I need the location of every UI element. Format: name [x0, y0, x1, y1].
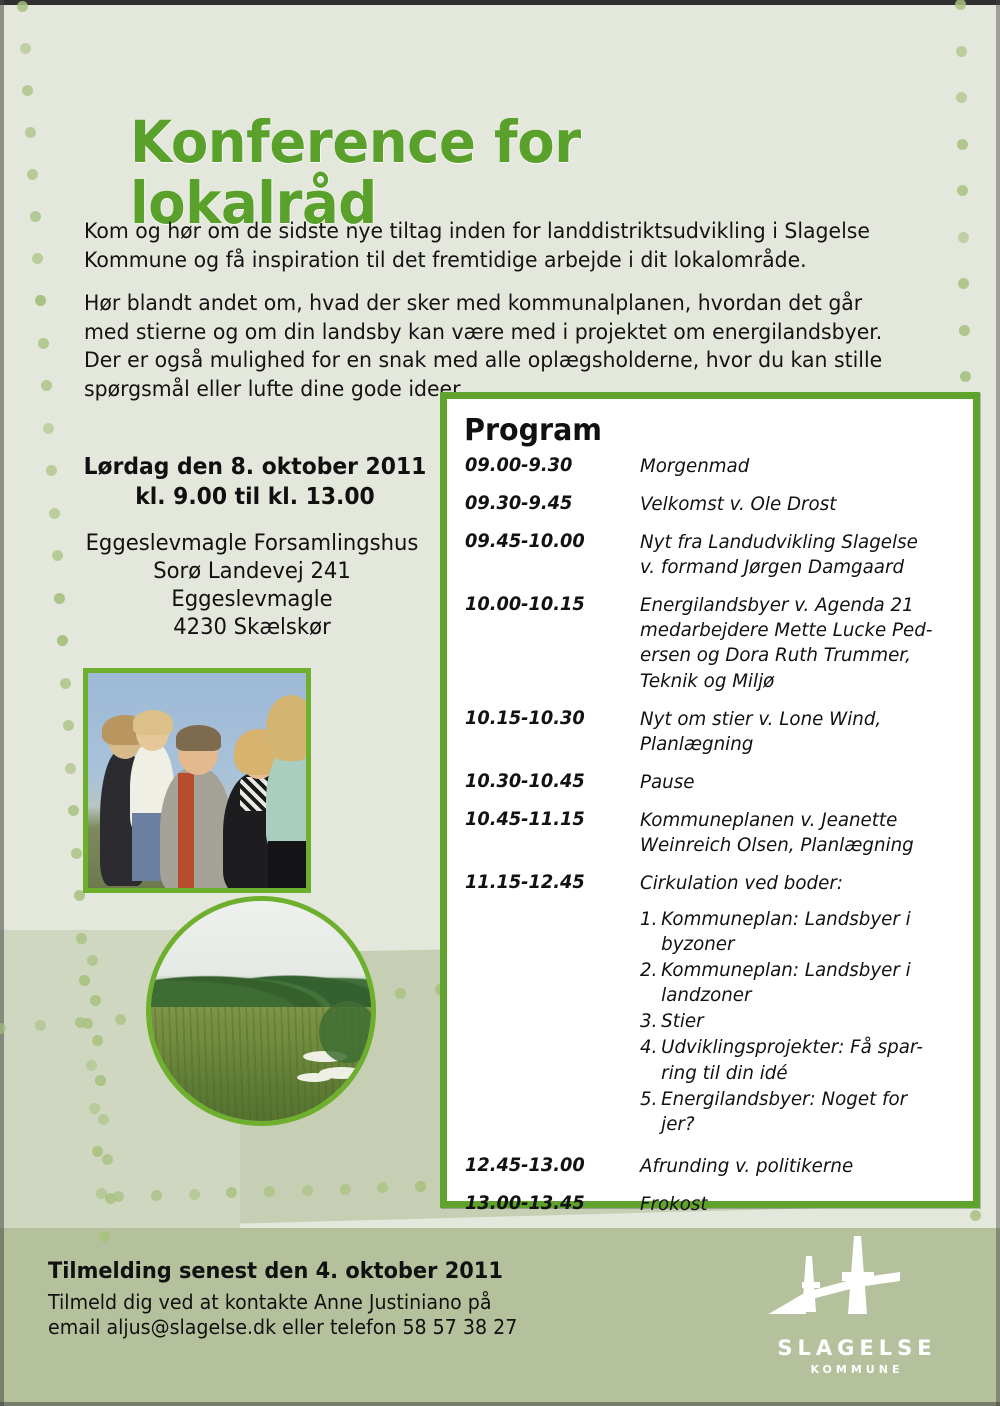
program-time: 13.00-13.45: [465, 1192, 633, 1217]
program-time: 10.15-10.30: [465, 707, 633, 757]
program-sublist-line: Stier: [661, 1009, 946, 1034]
program-row: 10.30-10.45Pause: [447, 770, 973, 795]
program-row: 09.00-9.30Morgenmad: [447, 454, 973, 479]
event-venue: Eggeslevmagle Forsamlingshus Sorø Landev…: [60, 530, 444, 643]
program-sublist-item: 5.Energilandsbyer: Noget forjer?: [640, 1087, 946, 1137]
program-description-line: Frokost: [640, 1192, 946, 1217]
contact-line-1: Tilmeld dig ved at kontakte Anne Justini…: [48, 1290, 637, 1315]
program-sublist-line: Kommuneplan: Landsbyer i: [661, 958, 946, 983]
event-datetime: Lørdag den 8. oktober 2011 kl. 9.00 til …: [70, 452, 441, 513]
bridge-icon: [762, 1234, 952, 1334]
program-description-line: v. formand Jørgen Damgaard: [640, 555, 946, 580]
program-sublist-text: Stier: [661, 1009, 946, 1034]
program-description-line: Nyt om stier v. Lone Wind,: [640, 707, 946, 732]
nature-photo-flower-3: [297, 1073, 331, 1082]
venue-town: Eggeslevmagle: [60, 586, 444, 614]
top-edge-rule: [0, 0, 1000, 5]
program-time: 09.30-9.45: [465, 492, 633, 517]
program-description: Frokost: [640, 1192, 946, 1217]
program-description-line: Velkomst v. Ole Drost: [640, 492, 946, 517]
program-description-line: Afrunding v. politikerne: [640, 1154, 946, 1179]
program-box: Program 09.00-9.30Morgenmad09.30-9.45Vel…: [440, 392, 980, 1208]
program-description-line: Planlægning: [640, 732, 946, 757]
program-description-line: ersen og Dora Ruth Trummer,: [640, 643, 946, 668]
footer-registration: Tilmelding senest den 4. oktober 2011 Ti…: [48, 1258, 668, 1340]
program-sublist-item: 2.Kommuneplan: Landsbyer ilandzoner: [640, 958, 946, 1008]
program-description: Velkomst v. Ole Drost: [640, 492, 946, 517]
program-sublist-text: Energilandsbyer: Noget forjer?: [661, 1087, 946, 1137]
figure-man-hair: [176, 725, 221, 751]
program-description-line: Cirkulation ved boder:: [640, 871, 946, 896]
program-time: 11.15-12.45: [465, 871, 633, 1141]
program-row: 12.45-13.00Afrunding v. politikerne: [447, 1154, 973, 1179]
program-description-line: Nyt fra Landudvikling Slagelse: [640, 530, 946, 555]
family-photo: [83, 668, 311, 893]
program-description-line: Energilandsbyer v. Agenda 21: [640, 593, 946, 618]
right-edge-rule: [996, 0, 1000, 1406]
program-description: Morgenmad: [640, 454, 946, 479]
program-description: Kommuneplanen v. JeanetteWeinreich Olsen…: [640, 808, 946, 858]
program-row: 09.30-9.45Velkomst v. Ole Drost: [447, 492, 973, 517]
program-description-line: Kommuneplanen v. Jeanette: [640, 808, 946, 833]
program-sublist-line: Energilandsbyer: Noget for: [661, 1087, 946, 1112]
left-edge-rule: [0, 0, 4, 1406]
program-description: Afrunding v. politikerne: [640, 1154, 946, 1179]
program-sublist-number: 2.: [640, 958, 661, 1008]
program-description: Cirkulation ved boder:1.Kommuneplan: Lan…: [640, 871, 946, 1141]
event-date: Lørdag den 8. oktober 2011: [70, 452, 441, 482]
program-row: 10.00-10.15Energilandsbyer v. Agenda 21m…: [447, 593, 973, 693]
program-sublist-number: 3.: [640, 1009, 661, 1034]
program-description-line: Pause: [640, 770, 946, 795]
program-sublist-text: Udviklingsprojekter: Få spar-ring til di…: [661, 1035, 946, 1085]
program-sublist-line: Kommuneplan: Landsbyer i: [661, 907, 946, 932]
figure-child-hair: [133, 710, 173, 735]
logo-name: SLAGELSE: [762, 1336, 952, 1360]
bottom-edge-rule: [0, 1402, 1000, 1406]
program-description-line: medarbejdere Mette Lucke Ped-: [640, 618, 946, 643]
program-sublist-item: 1.Kommuneplan: Landsbyer ibyzoner: [640, 907, 946, 957]
figure-man: [160, 768, 232, 893]
program-time: 09.45-10.00: [465, 530, 633, 580]
program-sublist-line: landzoner: [661, 983, 946, 1008]
registration-contact: Tilmeld dig ved at kontakte Anne Justini…: [48, 1290, 637, 1340]
program-sublist-item: 3.Stier: [640, 1009, 946, 1034]
program-sublist-line: byzoner: [661, 932, 946, 957]
venue-street: Sorø Landevej 241: [60, 558, 444, 586]
figure-teen-hair: [266, 695, 311, 761]
program-time: 10.45-11.15: [465, 808, 633, 858]
figure-man-scarf: [178, 773, 194, 888]
program-description: Energilandsbyer v. Agenda 21medarbejdere…: [640, 593, 946, 693]
program-row: 10.45-11.15Kommuneplanen v. JeanetteWein…: [447, 808, 973, 858]
program-sublist-number: 1.: [640, 907, 661, 957]
program-description-line: Morgenmad: [640, 454, 946, 479]
venue-name: Eggeslevmagle Forsamlingshus: [60, 530, 444, 558]
program-list: 09.00-9.30Morgenmad09.30-9.45Velkomst v.…: [447, 454, 973, 1217]
program-sublist-item: 4.Udviklingsprojekter: Få spar-ring til …: [640, 1035, 946, 1085]
venue-zipcity: 4230 Skælskør: [60, 614, 444, 642]
program-sublist-line: jer?: [661, 1112, 946, 1137]
program-description-line: Teknik og Miljø: [640, 669, 946, 694]
logo-subtitle: KOMMUNE: [762, 1363, 952, 1376]
program-description-line: Weinreich Olsen, Planlægning: [640, 833, 946, 858]
program-sublist-number: 4.: [640, 1035, 661, 1085]
registration-deadline: Tilmelding senest den 4. oktober 2011: [48, 1258, 637, 1286]
program-row: 13.00-13.45Frokost: [447, 1192, 973, 1217]
intro-paragraph-2: Hør blandt andet om, hvad der sker med k…: [84, 290, 901, 404]
figure-teen-legs: [268, 841, 311, 893]
program-sublist-text: Kommuneplan: Landsbyer ibyzoner: [661, 907, 946, 957]
program-description: Pause: [640, 770, 946, 795]
slagelse-kommune-logo: SLAGELSE KOMMUNE: [762, 1234, 952, 1384]
program-row: 11.15-12.45Cirkulation ved boder:1.Kommu…: [447, 871, 973, 1141]
contact-line-2: email aljus@slagelse.dk eller telefon 58…: [48, 1315, 637, 1340]
event-time: kl. 9.00 til kl. 13.00: [70, 482, 441, 512]
intro-text: Kom og hør om de sidste nye tiltag inden…: [84, 218, 901, 420]
nature-photo-bush: [319, 1001, 376, 1063]
figure-teen: [266, 751, 311, 851]
program-sublist-line: Udviklingsprojekter: Få spar-: [661, 1035, 946, 1060]
program-description: Nyt fra Landudvikling Slagelsev. formand…: [640, 530, 946, 580]
program-heading: Program: [447, 399, 947, 454]
program-sublist-text: Kommuneplan: Landsbyer ilandzoner: [661, 958, 946, 1008]
program-row: 10.15-10.30Nyt om stier v. Lone Wind,Pla…: [447, 707, 973, 757]
poster-canvas: Konference for lokalråd Kom og hør om de…: [0, 0, 1000, 1406]
intro-paragraph-1: Kom og hør om de sidste nye tiltag inden…: [84, 218, 901, 275]
page-title: Konference for lokalråd: [130, 112, 844, 234]
nature-photo: [146, 896, 376, 1126]
program-description: Nyt om stier v. Lone Wind,Planlægning: [640, 707, 946, 757]
program-sublist-line: ring til din idé: [661, 1061, 946, 1086]
program-row: 09.45-10.00Nyt fra Landudvikling Slagels…: [447, 530, 973, 580]
program-time: 10.30-10.45: [465, 770, 633, 795]
program-time: 12.45-13.00: [465, 1154, 633, 1179]
program-sublist-number: 5.: [640, 1087, 661, 1137]
program-sublist: 1.Kommuneplan: Landsbyer ibyzoner2.Kommu…: [640, 907, 946, 1137]
program-time: 09.00-9.30: [465, 454, 633, 479]
program-time: 10.00-10.15: [465, 593, 633, 693]
